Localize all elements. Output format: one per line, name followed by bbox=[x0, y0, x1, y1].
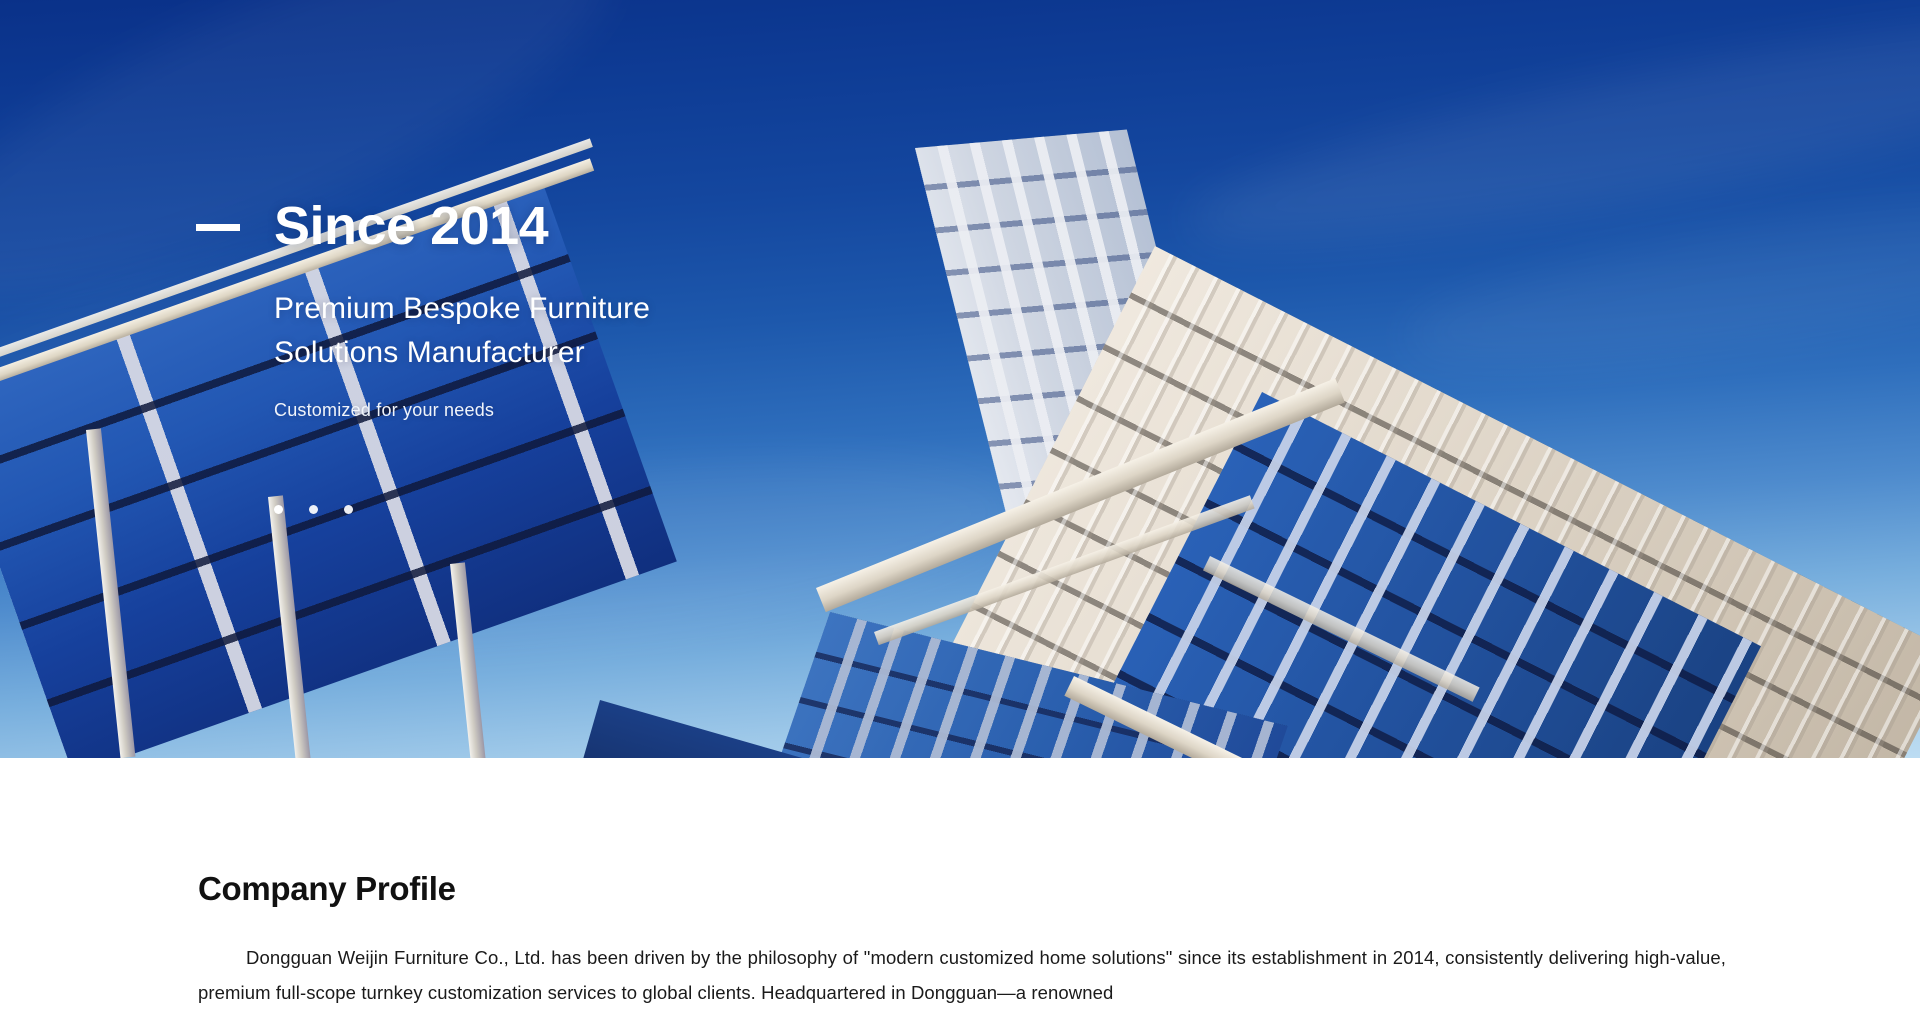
hero-banner: Since 2014 Premium Bespoke Furniture Sol… bbox=[0, 0, 1920, 758]
carousel-dot-2[interactable] bbox=[309, 505, 318, 514]
hero-tagline: Customized for your needs bbox=[274, 400, 494, 421]
hero-subheadline-line1: Premium Bespoke Furniture bbox=[274, 287, 650, 331]
page-title: Company Profile bbox=[198, 870, 456, 908]
carousel-indicators[interactable] bbox=[274, 505, 353, 514]
hero-copy: Since 2014 Premium Bespoke Furniture Sol… bbox=[0, 0, 1920, 758]
carousel-dot-3[interactable] bbox=[344, 505, 353, 514]
company-profile-section: Company Profile Dongguan Weijin Furnitur… bbox=[0, 758, 1920, 1000]
hero-subheadline-line2: Solutions Manufacturer bbox=[274, 331, 650, 375]
carousel-dot-1[interactable] bbox=[274, 505, 283, 514]
hero-headline: Since 2014 bbox=[274, 198, 548, 255]
accent-dash-icon bbox=[196, 224, 240, 231]
hero-subheadline: Premium Bespoke Furniture Solutions Manu… bbox=[274, 287, 650, 376]
